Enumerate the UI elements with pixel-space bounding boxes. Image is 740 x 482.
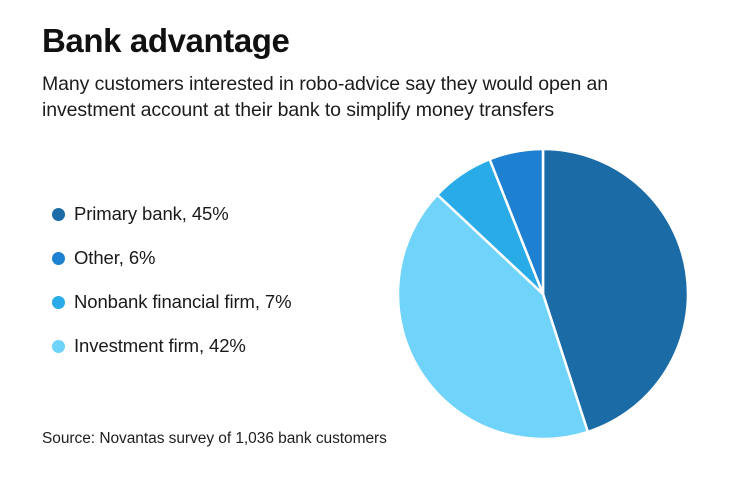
source-note: Source: Novantas survey of 1,036 bank cu… [42, 430, 387, 448]
legend-item-primary-bank[interactable]: Primary bank, 45% [52, 192, 382, 236]
infographic-page: Bank advantage Many customers interested… [0, 0, 740, 482]
legend-item-label: Investment firm, 42% [74, 337, 246, 356]
page-subtitle: Many customers interested in robo-advice… [42, 72, 667, 124]
pie-chart-svg [396, 147, 690, 441]
page-title: Bank advantage [42, 22, 702, 60]
legend-item-label: Primary bank, 45% [74, 205, 229, 224]
legend-swatch-icon [52, 296, 65, 309]
legend-item-label: Other, 6% [74, 249, 155, 268]
chart-legend: Primary bank, 45% Other, 6% Nonbank fina… [52, 192, 382, 368]
legend-swatch-icon [52, 340, 65, 353]
legend-item-other[interactable]: Other, 6% [52, 236, 382, 280]
legend-swatch-icon [52, 252, 65, 265]
legend-item-label: Nonbank financial firm, 7% [74, 293, 291, 312]
legend-item-nonbank-financial-firm[interactable]: Nonbank financial firm, 7% [52, 280, 382, 324]
pie-chart [396, 147, 690, 441]
legend-item-investment-firm[interactable]: Investment firm, 42% [52, 324, 382, 368]
legend-swatch-icon [52, 208, 65, 221]
